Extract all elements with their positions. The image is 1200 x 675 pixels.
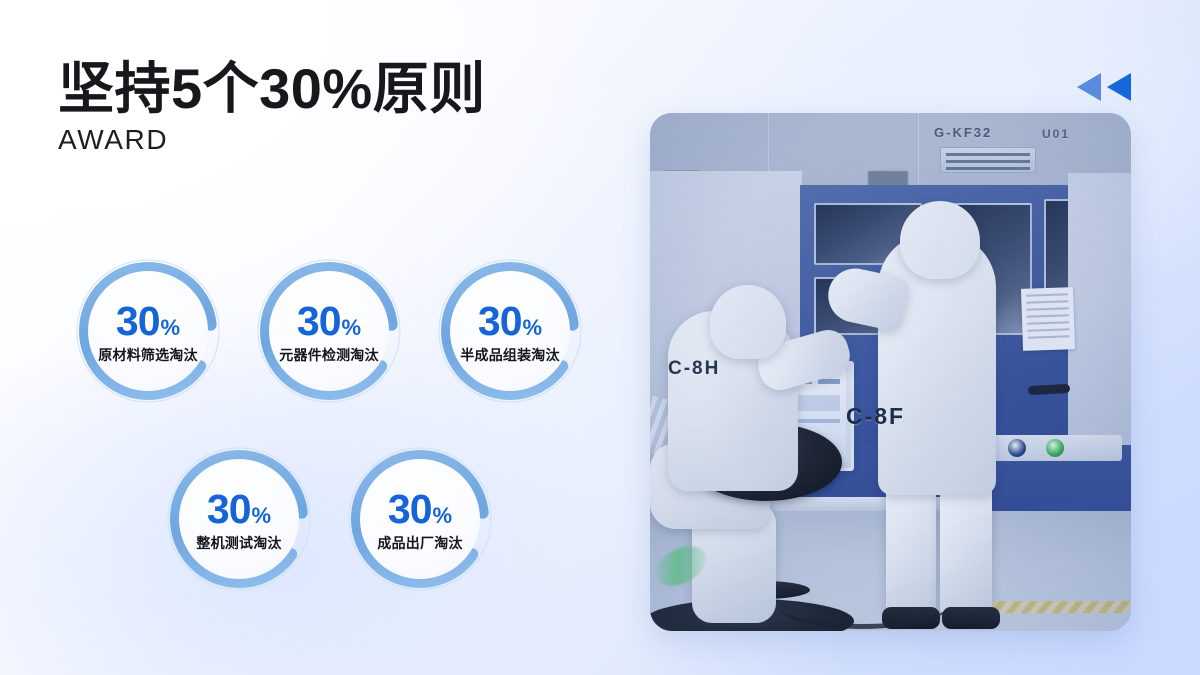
badge-value: 30 %: [207, 489, 271, 530]
badge-inner: 30 % 整机测试淘汰: [179, 459, 299, 579]
badge-number: 30: [297, 301, 341, 342]
badge-value: 30 %: [388, 489, 452, 530]
badge-item[interactable]: 30 % 元器件检测淘汰: [253, 255, 405, 407]
badge-caption: 半成品组装淘汰: [460, 348, 559, 362]
slide-canvas: 坚持5个30%原则 AWARD: [0, 0, 1200, 675]
badge-percent-symbol: %: [523, 317, 543, 339]
badge-inner: 30 % 元器件检测淘汰: [269, 271, 389, 391]
double-left-arrow-icon[interactable]: [1076, 72, 1132, 102]
badge-percent-symbol: %: [161, 317, 181, 339]
badge-caption: 整机测试淘汰: [196, 536, 281, 550]
badge-item[interactable]: 30 % 半成品组装淘汰: [434, 255, 586, 407]
factory-photo: G-KF32 U01 C-8H C-8F: [650, 113, 1131, 631]
photo-vignette: [650, 113, 1131, 631]
badge-number: 30: [478, 301, 522, 342]
badge-item[interactable]: 30 % 整机测试淘汰: [163, 443, 315, 595]
badge-percent-symbol: %: [342, 317, 362, 339]
arrow-left-light-icon: [1076, 72, 1102, 102]
badge-value: 30 %: [297, 301, 361, 342]
badge-inner: 30 % 半成品组装淘汰: [450, 271, 570, 391]
badge-number: 30: [116, 301, 160, 342]
badge-value: 30 %: [116, 301, 180, 342]
badge-group: 30 % 原材料筛选淘汰: [0, 0, 620, 675]
badge-percent-symbol: %: [433, 505, 453, 527]
badge-caption: 原材料筛选淘汰: [98, 348, 197, 362]
badge-item[interactable]: 30 % 原材料筛选淘汰: [72, 255, 224, 407]
badge-item[interactable]: 30 % 成品出厂淘汰: [344, 443, 496, 595]
badge-caption: 成品出厂淘汰: [377, 536, 462, 550]
badge-number: 30: [207, 489, 251, 530]
badge-inner: 30 % 成品出厂淘汰: [360, 459, 480, 579]
badge-percent-symbol: %: [252, 505, 272, 527]
badge-inner: 30 % 原材料筛选淘汰: [88, 271, 208, 391]
badge-number: 30: [388, 489, 432, 530]
badge-value: 30 %: [478, 301, 542, 342]
arrow-left-dark-icon: [1106, 72, 1132, 102]
badge-caption: 元器件检测淘汰: [279, 348, 378, 362]
